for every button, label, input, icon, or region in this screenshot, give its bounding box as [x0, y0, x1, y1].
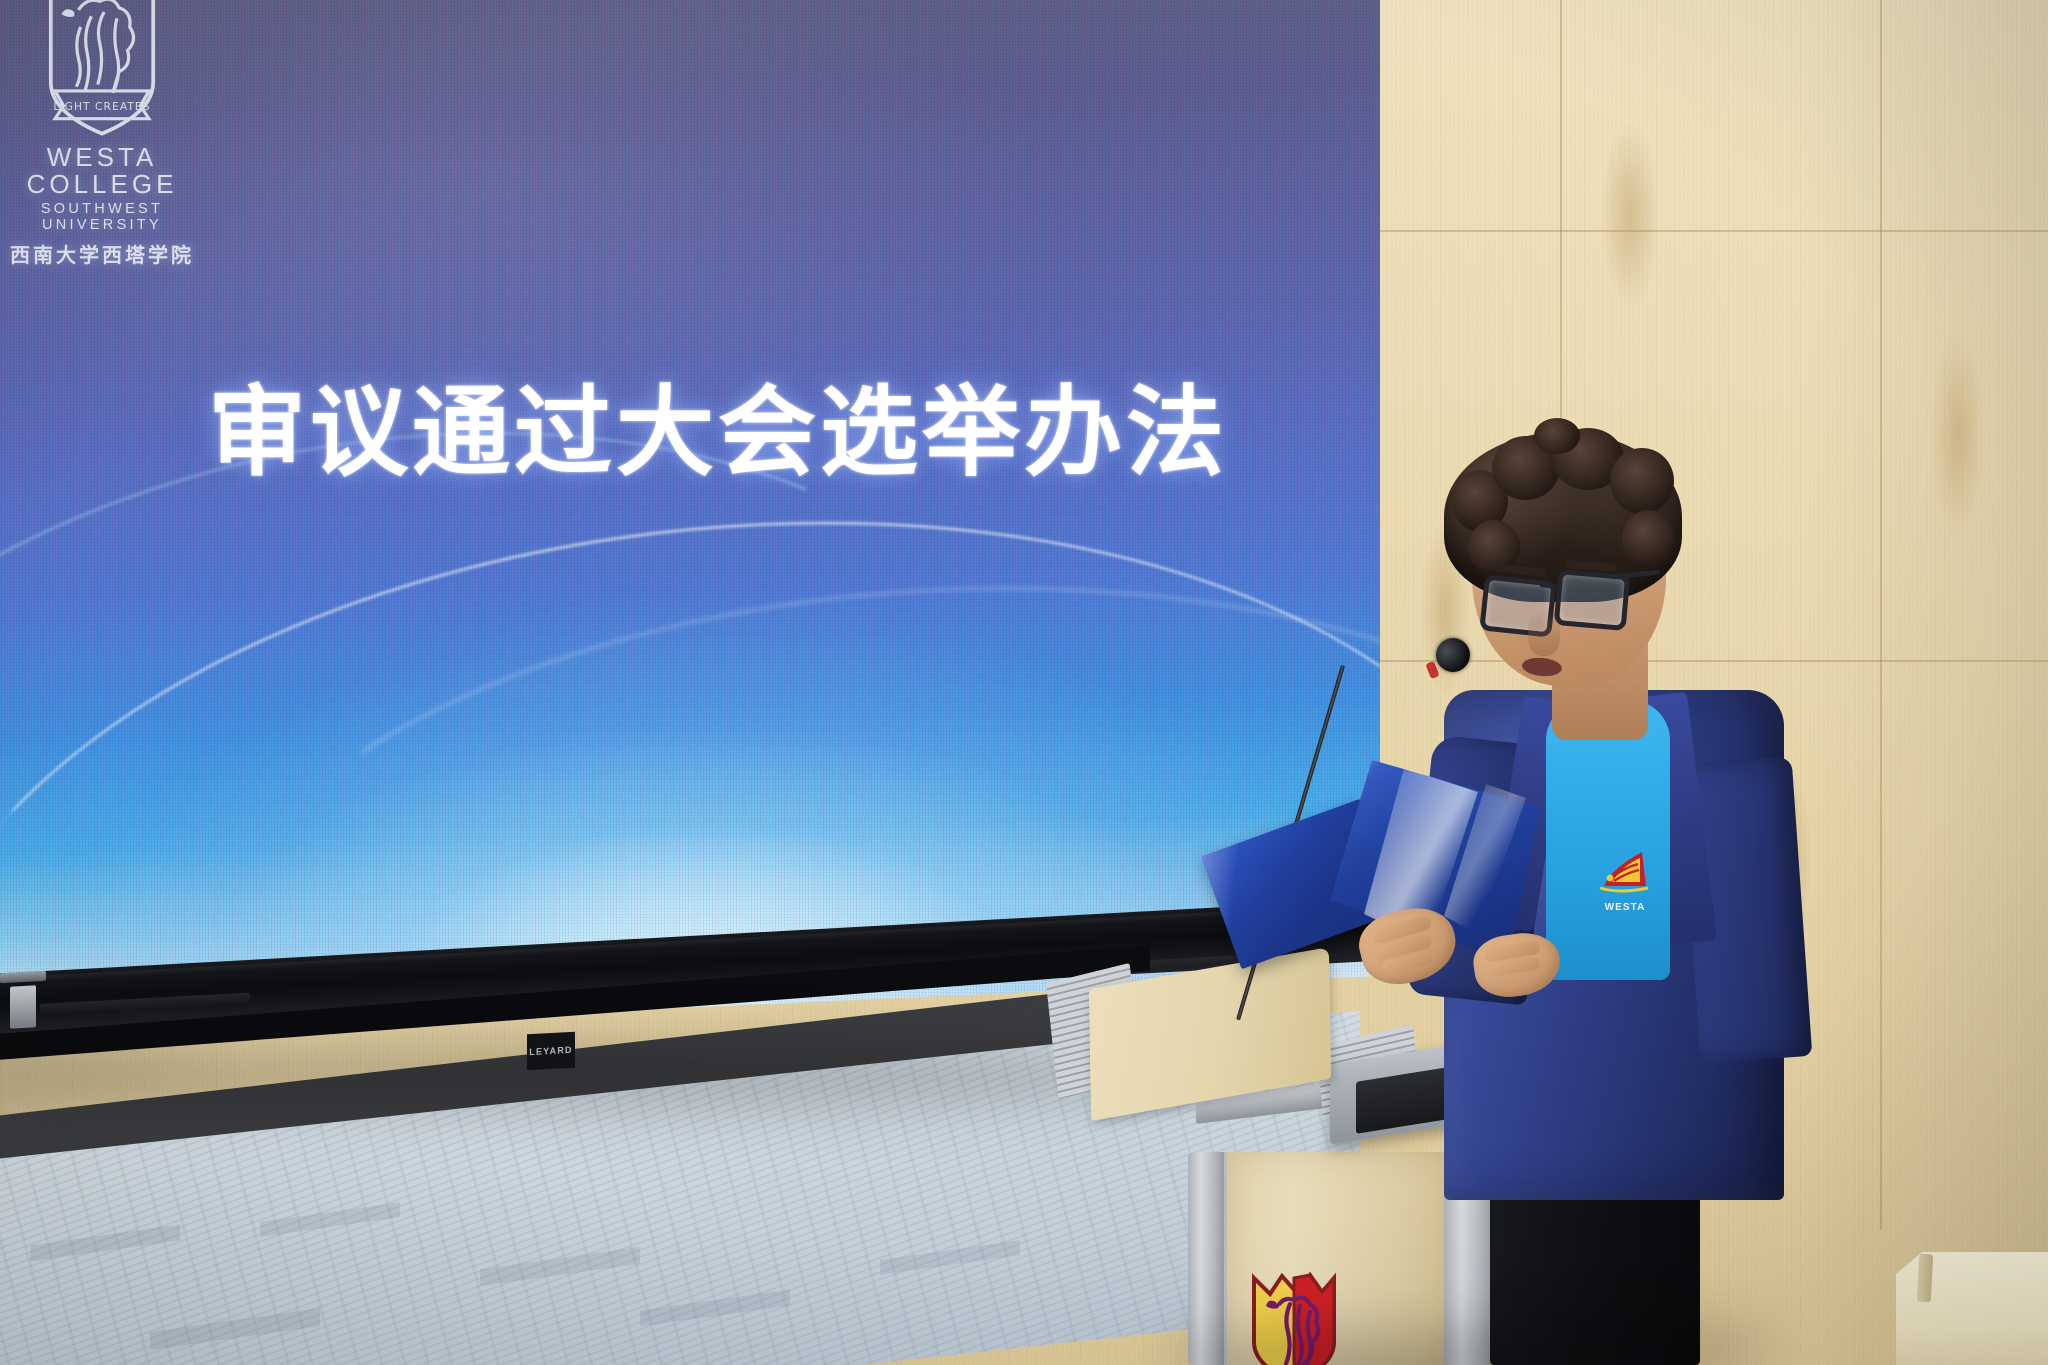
svg-text:LIGHT CREATES: LIGHT CREATES	[53, 100, 150, 113]
speaker-shirt	[1546, 700, 1670, 980]
logo-line-1: WESTA COLLEGE	[2, 144, 202, 199]
westa-sail-emblem-icon	[1590, 848, 1660, 896]
lion-crest-icon: LIGHT CREATES	[36, 0, 168, 140]
logo-line-2: SOUTHWEST UNIVERSITY	[2, 201, 202, 233]
hair-curl	[1622, 510, 1674, 568]
blazer-westa-badge: WESTA	[1580, 848, 1670, 913]
screen-mount-plate	[10, 985, 36, 1028]
screen-surface	[0, 0, 1380, 1026]
wall-panel-seam	[1880, 0, 1882, 1230]
led-video-wall: LIGHT CREATES WESTA COLLEGE SOUTHWEST UN…	[0, 0, 1380, 1026]
wood-grain-knot	[1930, 330, 1985, 540]
westa-college-logo: LIGHT CREATES WESTA COLLEGE SOUTHWEST UN…	[2, 0, 202, 268]
hair-curl	[1610, 448, 1674, 514]
wood-grain-knot	[1600, 120, 1660, 310]
blazer-badge-label: WESTA	[1580, 902, 1670, 913]
conference-photo: LIGHT CREATES WESTA COLLEGE SOUTHWEST UN…	[0, 0, 2048, 1365]
chair-edge	[1917, 1254, 1933, 1303]
led-pixel-grid	[0, 0, 1380, 1026]
logo-line-3: 西南大学西塔学院	[2, 239, 202, 268]
wall-panel-seam	[1335, 230, 2048, 232]
hair-curl	[1534, 418, 1580, 454]
lectern-left-column	[1188, 1152, 1224, 1365]
speaker-nose	[1528, 612, 1560, 656]
slide-title: 审议通过大会选举办法	[208, 384, 1228, 482]
